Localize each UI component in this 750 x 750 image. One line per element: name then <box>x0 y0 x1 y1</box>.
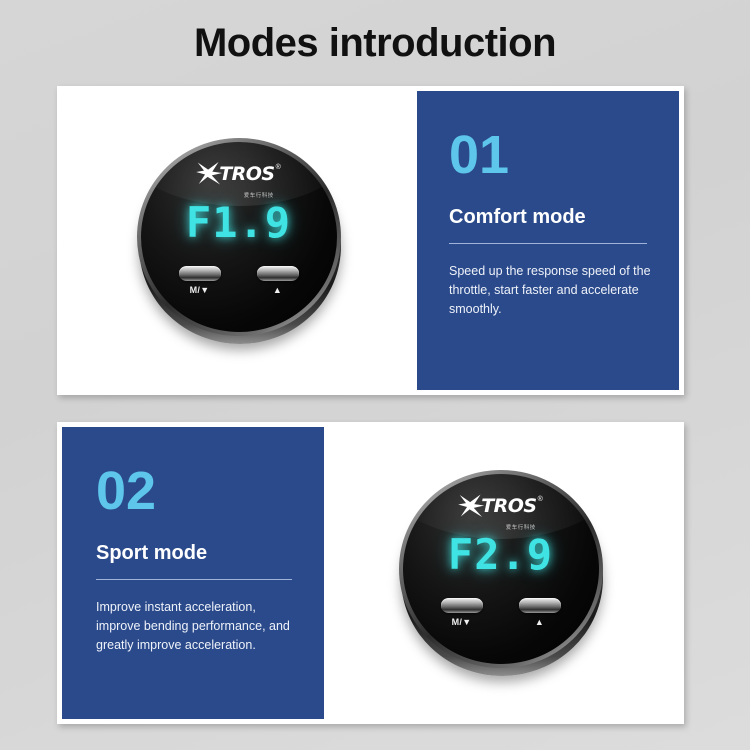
mode-up-button-cap-2[interactable] <box>519 598 561 613</box>
mode-down-button-2[interactable]: M/▼ <box>440 598 484 627</box>
mode-info-pane-2: 02 Sport mode Improve instant accelerati… <box>62 427 324 719</box>
mode-down-button-label-1: M/▼ <box>178 285 222 295</box>
mode-down-button-cap-2[interactable] <box>441 598 483 613</box>
mode-divider-2 <box>96 579 292 580</box>
mode-card-comfort: TROS® 爱车行科技 F1.9 M/▼ ▲ <box>57 86 684 395</box>
mode-up-button-label-1: ▲ <box>256 285 300 295</box>
mode-up-button-2[interactable]: ▲ <box>518 598 562 627</box>
device-image-pane-2: TROS® 爱车行科技 F2.9 M/▼ ▲ <box>324 427 679 719</box>
mode-description-1: Speed up the response speed of the throt… <box>449 262 651 319</box>
mode-description-2: Improve instant acceleration, improve be… <box>96 598 296 655</box>
device-face-1: TROS® 爱车行科技 F1.9 M/▼ ▲ <box>141 142 337 332</box>
mode-card-sport: 02 Sport mode Improve instant accelerati… <box>57 422 684 724</box>
mode-title-1: Comfort mode <box>449 205 651 229</box>
device-button-row-1: M/▼ ▲ <box>141 266 337 295</box>
mode-info-pane-1: 01 Comfort mode Speed up the response sp… <box>417 91 679 390</box>
device-image-pane-1: TROS® 爱车行科技 F1.9 M/▼ ▲ <box>62 91 417 390</box>
mode-down-button-cap-1[interactable] <box>179 266 221 281</box>
mode-up-button-label-2: ▲ <box>518 617 562 627</box>
device-face-2: TROS® 爱车行科技 F2.9 M/▼ ▲ <box>403 474 599 664</box>
throttle-controller-device-2: TROS® 爱车行科技 F2.9 M/▼ ▲ <box>397 468 607 678</box>
mode-up-button-1[interactable]: ▲ <box>256 266 300 295</box>
mode-title-2: Sport mode <box>96 541 296 565</box>
mode-down-button-label-2: M/▼ <box>440 617 484 627</box>
mode-down-button-1[interactable]: M/▼ <box>178 266 222 295</box>
registered-trademark-icon-2: ® <box>538 496 543 503</box>
logo-wordmark-1: TROS <box>219 163 274 185</box>
xtros-logo-1: TROS® 爱车行科技 <box>141 162 337 196</box>
mode-number-2: 02 <box>96 463 296 519</box>
xtros-logo-2: TROS® 爱车行科技 <box>403 494 599 528</box>
seven-segment-display-2: F2.9 <box>403 530 599 579</box>
mode-up-button-cap-1[interactable] <box>257 266 299 281</box>
device-button-row-2: M/▼ ▲ <box>403 598 599 627</box>
mode-divider-1 <box>449 243 647 244</box>
page-title: Modes introduction <box>0 18 750 68</box>
mode-number-1: 01 <box>449 127 651 183</box>
registered-trademark-icon-1: ® <box>276 164 281 171</box>
seven-segment-display-1: F1.9 <box>141 198 337 247</box>
throttle-controller-device-1: TROS® 爱车行科技 F1.9 M/▼ ▲ <box>135 136 345 346</box>
logo-wordmark-2: TROS <box>481 495 536 517</box>
